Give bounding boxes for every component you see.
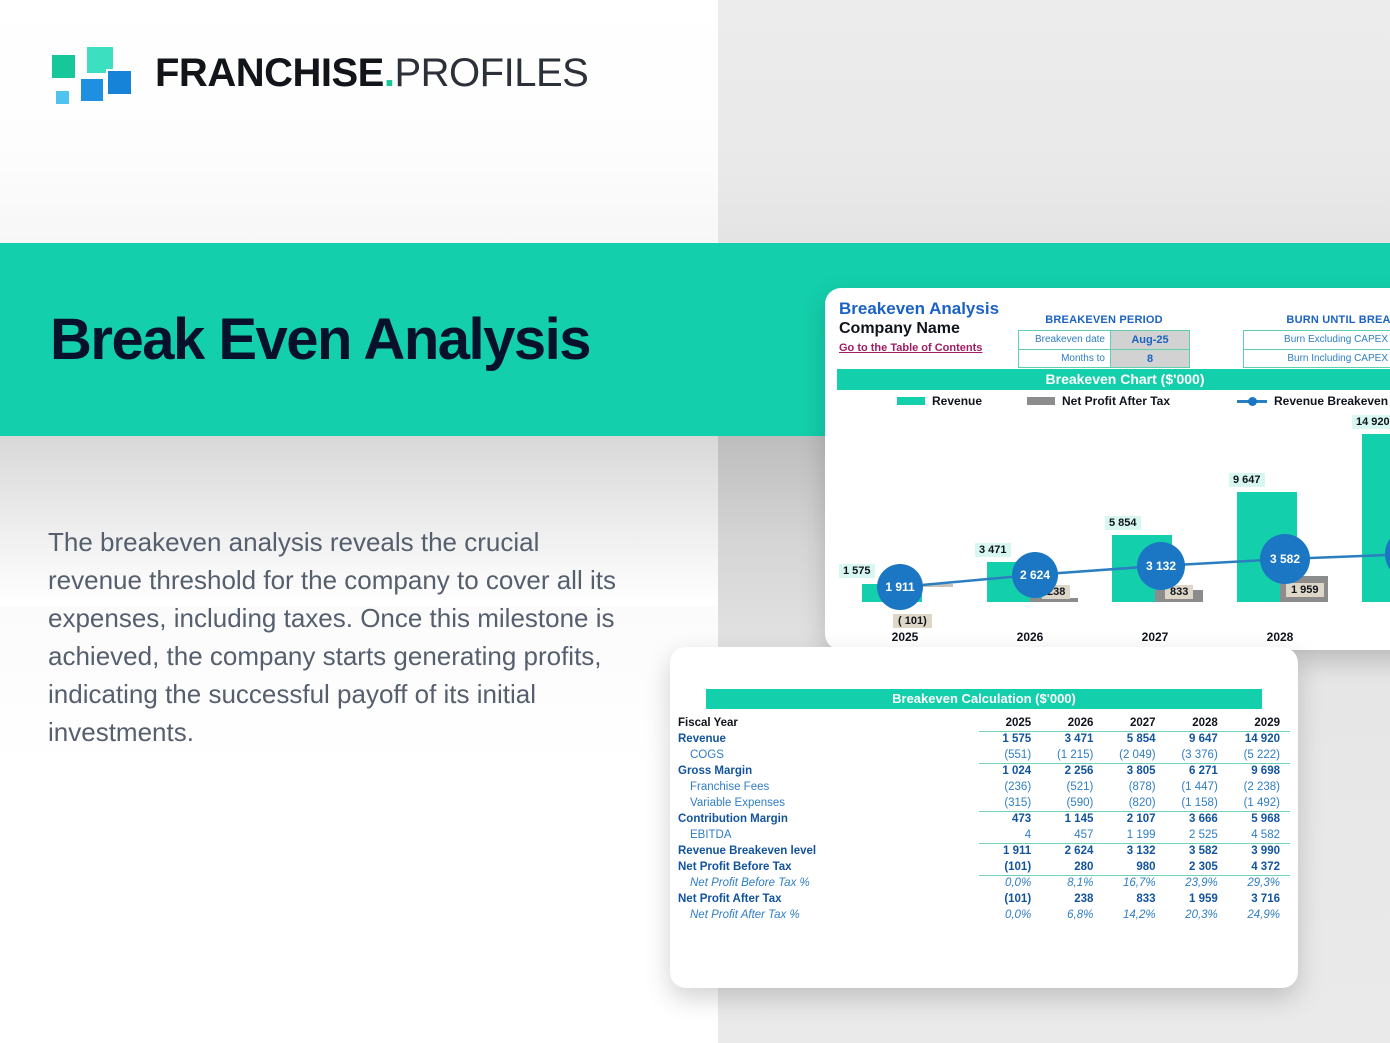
- table-row-label: Net Profit After Tax: [678, 891, 979, 907]
- table-row: Revenue Breakeven level1 9112 6243 1323 …: [678, 843, 1290, 859]
- table-cell: (551): [979, 747, 1041, 763]
- breakeven-period-group: BREAKEVEN PERIOD Breakeven date Aug-25 M…: [1018, 314, 1190, 368]
- brand-name-bold: FRANCHISE: [155, 51, 384, 95]
- breakeven-bubble-2026[interactable]: 2 624: [1012, 552, 1058, 598]
- table-row-label: Variable Expenses: [678, 795, 979, 811]
- chart-card-company: Company Name: [839, 320, 960, 338]
- burn-heading: BURN UNTIL BREAKEVEN: [1243, 314, 1390, 326]
- table-cell: 1 911: [979, 843, 1041, 859]
- table-body: Revenue1 5753 4715 8549 64714 920COGS(55…: [678, 731, 1290, 923]
- burn-excluding-capex-row: Burn Excluding CAPEX: [1244, 331, 1390, 349]
- breakeven-trend-line: [825, 416, 1390, 650]
- table-row-label: Contribution Margin: [678, 811, 979, 827]
- table-cell: 1 024: [979, 763, 1041, 779]
- table-cell: 2 305: [1166, 859, 1228, 875]
- table-header-year-2029: 2029: [1228, 715, 1290, 731]
- table-header-year-2025: 2025: [979, 715, 1041, 731]
- table-cell: 4: [979, 827, 1041, 843]
- legend-label-revenue: Revenue: [932, 394, 982, 408]
- table-row: EBITDA44571 1992 5254 582: [678, 827, 1290, 843]
- table-cell: 3 990: [1228, 843, 1290, 859]
- burn-including-capex-row: Burn Including CAPEX: [1244, 349, 1390, 367]
- legend-item-net-profit[interactable]: Net Profit After Tax: [1027, 394, 1170, 408]
- legend-label-net-profit: Net Profit After Tax: [1062, 394, 1170, 408]
- table-header-row: Fiscal Year 2025 2026 2027 2028 2029: [678, 715, 1290, 731]
- months-to-breakeven-row: Months to breakeven 8: [1019, 349, 1189, 367]
- burn-including-capex-label: Burn Including CAPEX: [1244, 350, 1390, 367]
- table-cell: 3 666: [1166, 811, 1228, 827]
- chart-plot-area: 1 575 ( 101) 1 911 2025 3 471 238 2 624 …: [825, 416, 1390, 650]
- brand-logo: FRANCHISE.PROFILES: [48, 45, 588, 100]
- table-row-label: Revenue: [678, 731, 979, 747]
- table-cell: 1 145: [1041, 811, 1103, 827]
- table-cell: (1 492): [1228, 795, 1290, 811]
- table-cell: 280: [1041, 859, 1103, 875]
- table-cell: (3 376): [1166, 747, 1228, 763]
- table-cell: 2 107: [1103, 811, 1165, 827]
- table-cell: 0,0%: [979, 907, 1041, 923]
- table-banner-title: Breakeven Calculation ($'000): [706, 689, 1262, 709]
- table-cell: 4 372: [1228, 859, 1290, 875]
- brand-name-light: PROFILES: [394, 51, 588, 95]
- table-cell: 8,1%: [1041, 875, 1103, 891]
- table-cell: 24,9%: [1228, 907, 1290, 923]
- table-cell: (101): [979, 859, 1041, 875]
- legend-item-revenue[interactable]: Revenue: [897, 394, 982, 408]
- table-cell: 23,9%: [1166, 875, 1228, 891]
- table-row-label: Net Profit Before Tax: [678, 859, 979, 875]
- table-cell: 9 698: [1228, 763, 1290, 779]
- breakeven-date-label: Breakeven date: [1019, 331, 1111, 349]
- table-row-label: COGS: [678, 747, 979, 763]
- table-cell: 4 582: [1228, 827, 1290, 843]
- table-cell: 6 271: [1166, 763, 1228, 779]
- table-cell: (1 158): [1166, 795, 1228, 811]
- table-row: Net Profit Before Tax %0,0%8,1%16,7%23,9…: [678, 875, 1290, 891]
- chart-banner-title: Breakeven Chart ($'000): [837, 369, 1390, 390]
- chart-card-title: Breakeven Analysis: [839, 299, 999, 319]
- table-row-label: Franchise Fees: [678, 779, 979, 795]
- breakeven-bubble-2025[interactable]: 1 911: [877, 564, 923, 610]
- table-cell: 1 959: [1166, 891, 1228, 907]
- table-row: Gross Margin1 0242 2563 8056 2719 698: [678, 763, 1290, 779]
- breakeven-calculation-card: Breakeven Calculation ($'000) Fiscal Yea…: [670, 647, 1298, 988]
- table-row: Net Profit After Tax(101)2388331 9593 71…: [678, 891, 1290, 907]
- table-cell: 6,8%: [1041, 907, 1103, 923]
- table-cell: 29,3%: [1228, 875, 1290, 891]
- table-header-year-2026: 2026: [1041, 715, 1103, 731]
- breakeven-chart-card: Breakeven Analysis Company Name Go to th…: [825, 288, 1390, 650]
- table-cell: 833: [1103, 891, 1165, 907]
- table-cell: (5 222): [1228, 747, 1290, 763]
- legend-swatch-net-profit-icon: [1027, 397, 1055, 405]
- table-cell: 14,2%: [1103, 907, 1165, 923]
- table-cell: 9 647: [1166, 731, 1228, 747]
- table-cell: (236): [979, 779, 1041, 795]
- legend-swatch-revenue-icon: [897, 397, 925, 405]
- table-cell: (820): [1103, 795, 1165, 811]
- table-cell: 3 471: [1041, 731, 1103, 747]
- page-title: Break Even Analysis: [50, 308, 590, 372]
- background-panel-top-left: [0, 0, 718, 243]
- table-row: Franchise Fees(236)(521)(878)(1 447)(2 2…: [678, 779, 1290, 795]
- table-cell: 2 256: [1041, 763, 1103, 779]
- table-cell: 980: [1103, 859, 1165, 875]
- table-cell: 5 968: [1228, 811, 1290, 827]
- table-header-fiscal-year: Fiscal Year: [678, 715, 979, 731]
- breakeven-date-row: Breakeven date Aug-25: [1019, 331, 1189, 349]
- table-cell: (1 447): [1166, 779, 1228, 795]
- table-row-label: Net Profit After Tax %: [678, 907, 979, 923]
- table-cell: 238: [1041, 891, 1103, 907]
- table-row: Net Profit After Tax %0,0%6,8%14,2%20,3%…: [678, 907, 1290, 923]
- burn-until-breakeven-group: BURN UNTIL BREAKEVEN Burn Excluding CAPE…: [1243, 314, 1390, 368]
- breakeven-date-value[interactable]: Aug-25: [1111, 331, 1189, 349]
- table-cell: (1 215): [1041, 747, 1103, 763]
- table-row: Contribution Margin4731 1452 1073 6665 9…: [678, 811, 1290, 827]
- table-cell: 3 132: [1103, 843, 1165, 859]
- table-cell: (2 238): [1228, 779, 1290, 795]
- table-header-year-2027: 2027: [1103, 715, 1165, 731]
- burn-excluding-capex-label: Burn Excluding CAPEX: [1244, 331, 1390, 349]
- chart-legend: Revenue Net Profit After Tax Revenue Bre…: [837, 394, 1390, 416]
- table-row-label: EBITDA: [678, 827, 979, 843]
- table-cell: 457: [1041, 827, 1103, 843]
- table-of-contents-link[interactable]: Go to the Table of Contents: [839, 342, 982, 354]
- breakeven-bubble-2027[interactable]: 3 132: [1137, 542, 1185, 590]
- breakeven-period-heading: BREAKEVEN PERIOD: [1018, 314, 1190, 326]
- table-row: Revenue1 5753 4715 8549 64714 920: [678, 731, 1290, 747]
- table-row-label: Gross Margin: [678, 763, 979, 779]
- brand-name-dot: .: [384, 51, 395, 95]
- table-row: COGS(551)(1 215)(2 049)(3 376)(5 222): [678, 747, 1290, 763]
- page-description: The breakeven analysis reveals the cruci…: [48, 523, 618, 751]
- table-cell: 3 805: [1103, 763, 1165, 779]
- breakeven-calculation-table: Fiscal Year 2025 2026 2027 2028 2029 Rev…: [678, 715, 1290, 923]
- table-cell: (101): [979, 891, 1041, 907]
- table-cell: 473: [979, 811, 1041, 827]
- table-row: Variable Expenses(315)(590)(820)(1 158)(…: [678, 795, 1290, 811]
- background-panel-top-right: [718, 0, 1390, 243]
- table-row-label: Revenue Breakeven level: [678, 843, 979, 859]
- months-to-breakeven-value[interactable]: 8: [1111, 350, 1189, 367]
- breakeven-bubble-2028[interactable]: 3 582: [1260, 534, 1310, 584]
- table-cell: 3 582: [1166, 843, 1228, 859]
- slide-canvas: FRANCHISE.PROFILES Break Even Analysis T…: [0, 0, 1390, 1043]
- table-cell: 14 920: [1228, 731, 1290, 747]
- table-cell: (878): [1103, 779, 1165, 795]
- legend-label-breakeven-level: Revenue Breakeven level: [1274, 394, 1390, 408]
- table-cell: (315): [979, 795, 1041, 811]
- brand-wordmark: FRANCHISE.PROFILES: [155, 53, 588, 93]
- table-cell: 20,3%: [1166, 907, 1228, 923]
- table-cell: (590): [1041, 795, 1103, 811]
- table-cell: 1 199: [1103, 827, 1165, 843]
- table-cell: 16,7%: [1103, 875, 1165, 891]
- table-row-label: Net Profit Before Tax %: [678, 875, 979, 891]
- table-cell: (521): [1041, 779, 1103, 795]
- table-cell: (2 049): [1103, 747, 1165, 763]
- table-cell: 0,0%: [979, 875, 1041, 891]
- squares-logo-icon: [48, 45, 108, 100]
- months-to-breakeven-label: Months to breakeven: [1019, 350, 1111, 367]
- legend-line-marker-icon: [1237, 397, 1267, 405]
- table-cell: 5 854: [1103, 731, 1165, 747]
- table-cell: 2 624: [1041, 843, 1103, 859]
- table-row: Net Profit Before Tax(101)2809802 3054 3…: [678, 859, 1290, 875]
- table-cell: 3 716: [1228, 891, 1290, 907]
- table-cell: 1 575: [979, 731, 1041, 747]
- table-header-year-2028: 2028: [1166, 715, 1228, 731]
- table-cell: 2 525: [1166, 827, 1228, 843]
- legend-item-breakeven-level[interactable]: Revenue Breakeven level: [1237, 394, 1390, 408]
